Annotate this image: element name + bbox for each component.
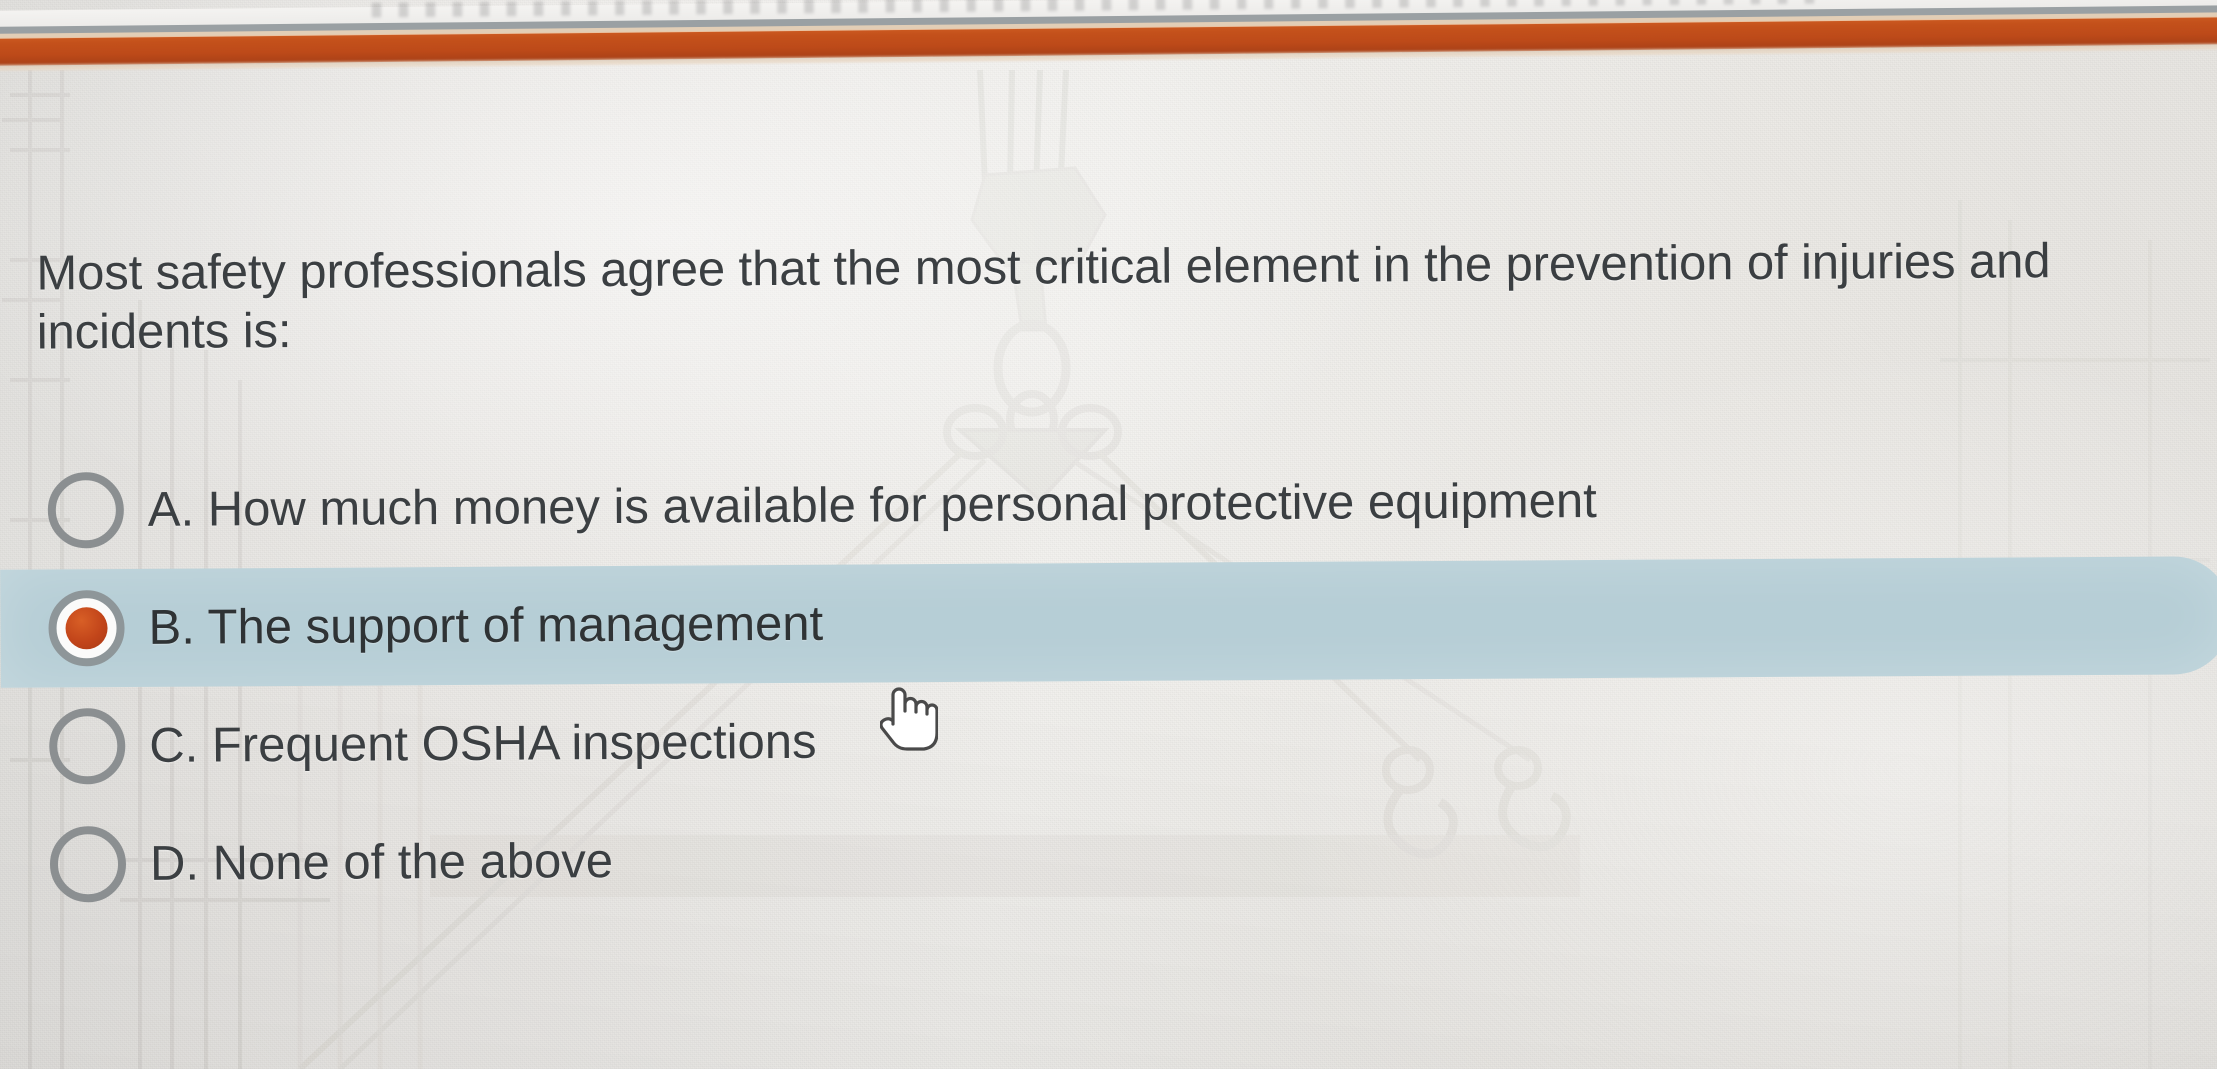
answer-options-list: A. How much money is available for perso…: [0, 438, 2217, 924]
radio-button-d[interactable]: [50, 826, 126, 902]
option-b[interactable]: B. The support of management: [0, 556, 2217, 688]
option-a-label: A. How much money is available for perso…: [148, 477, 1597, 535]
radio-button-c[interactable]: [49, 708, 125, 784]
option-d[interactable]: D. None of the above: [2, 792, 2217, 924]
radio-dot-b: [65, 607, 107, 649]
option-b-label: B. The support of management: [148, 599, 823, 652]
option-a[interactable]: A. How much money is available for perso…: [0, 438, 2217, 570]
screenshot-root: Most safety professionals agree that the…: [0, 0, 2217, 1069]
radio-button-b[interactable]: [48, 590, 124, 666]
option-d-label: D. None of the above: [150, 837, 613, 889]
option-c[interactable]: C. Frequent OSHA inspections: [1, 674, 2217, 806]
option-c-label: C. Frequent OSHA inspections: [149, 717, 817, 770]
quiz-content: Most safety professionals agree that the…: [0, 0, 2217, 1069]
question-text: Most safety professionals agree that the…: [36, 232, 2157, 363]
radio-button-a[interactable]: [48, 472, 124, 548]
